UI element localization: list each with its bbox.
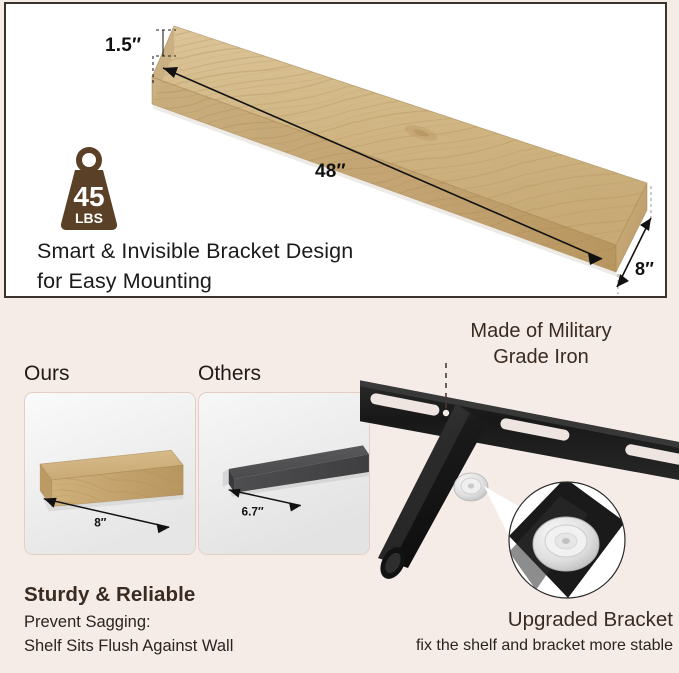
upgraded-bracket-subtext: fix the shelf and bracket more stable (313, 637, 673, 655)
dimension-label-length: 48″ (315, 161, 346, 183)
weight-number-text: 45 (73, 181, 104, 212)
comparison-label-others: Others (198, 362, 261, 386)
bracket-mounting-plate (360, 378, 679, 480)
plank-left-cap (152, 26, 174, 104)
hero-panel: 1.5″ 48″ 8″ 45 LBS Smart & Invisible Bra… (4, 2, 667, 298)
dimension-label-depth: 8″ (635, 259, 654, 280)
bracket-hex-cap-small (454, 473, 488, 501)
others-dimension-text: 6.7″ (242, 504, 264, 518)
bracket-screw-hole (443, 410, 449, 416)
military-iron-line1: Made of Military (411, 318, 671, 344)
comparison-card-others: 6.7″ (198, 392, 370, 555)
military-iron-heading: Made of Military Grade Iron (411, 318, 671, 370)
weight-unit-text: LBS (75, 210, 103, 226)
comparison-label-ours: Ours (24, 362, 70, 386)
magnifier-circle (509, 478, 625, 598)
dimension-thickness-guide (153, 30, 176, 84)
sturdy-subtext: Prevent Sagging: Shelf Sits Flush Agains… (24, 610, 233, 658)
ours-dimension-text: 8″ (94, 515, 107, 529)
weight-capacity-badge: 45 LBS (53, 144, 125, 232)
sturdy-subtext-line1: Prevent Sagging: (24, 610, 233, 634)
plank-top-face (152, 26, 647, 245)
upgraded-bracket-heading: Upgraded Bracket (373, 608, 673, 632)
infographic-root: 1.5″ 48″ 8″ 45 LBS Smart & Invisible Bra… (0, 0, 679, 673)
hero-headline-line2: for Easy Mounting (37, 266, 637, 296)
length-arrow-head-left (163, 67, 178, 78)
magnifier-pointer (484, 486, 528, 538)
hero-headline: Smart & Invisible Bracket Design for Eas… (37, 236, 637, 296)
military-iron-line2: Grade Iron (411, 344, 671, 370)
dimension-label-thickness: 1.5″ (105, 35, 141, 57)
hero-headline-line1: Smart & Invisible Bracket Design (37, 236, 637, 266)
sturdy-subtext-line2: Shelf Sits Flush Against Wall (24, 634, 233, 658)
sturdy-heading: Sturdy & Reliable (24, 583, 195, 607)
bracket-support-rod (375, 404, 487, 583)
dimension-length-arrow (163, 68, 602, 259)
comparison-card-ours: 8″ (24, 392, 196, 555)
